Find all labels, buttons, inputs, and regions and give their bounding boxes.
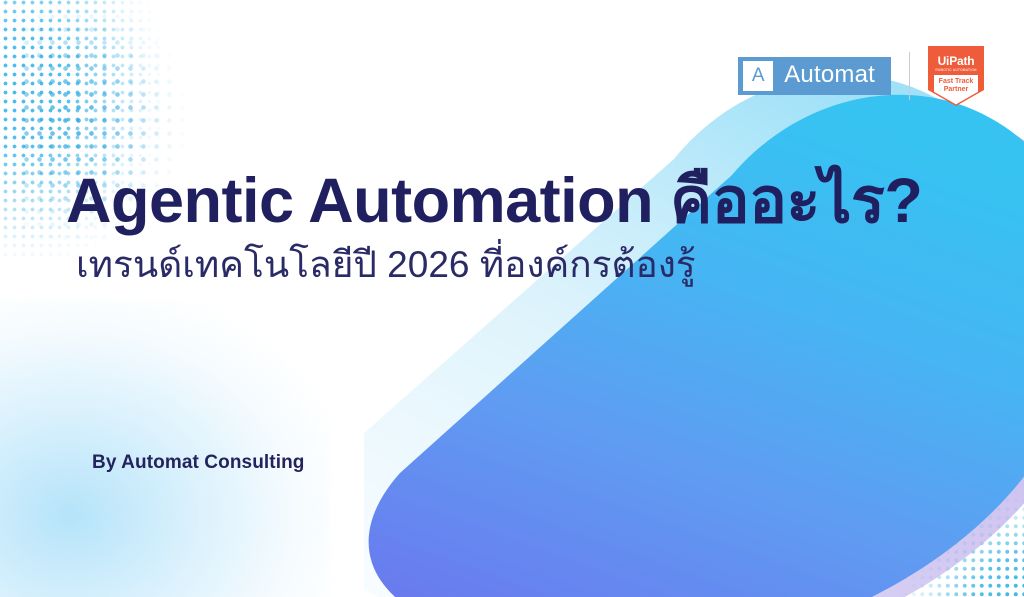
logo-bar: A Automat UiPath ROBOTIC AUTOMATION Fast… xyxy=(738,46,984,106)
byline: By Automat Consulting xyxy=(92,452,305,474)
uipath-fast-track-partner-badge[interactable]: UiPath ROBOTIC AUTOMATION Fast Track Par… xyxy=(928,46,984,106)
automat-wordmark: Automat xyxy=(784,63,875,89)
automat-logo[interactable]: A Automat xyxy=(738,57,891,95)
uipath-brand-text: UiPath xyxy=(928,55,984,67)
ribbon-line-2: Partner xyxy=(944,86,969,93)
ribbon-line-1: Fast Track xyxy=(939,78,974,85)
automat-mark-icon: A xyxy=(743,61,773,91)
uipath-tagline-text: ROBOTIC AUTOMATION xyxy=(928,69,984,72)
headline-block: Agentic Automation คืออะไร? เทรนด์เทคโนโ… xyxy=(66,168,966,286)
logo-divider xyxy=(909,52,910,100)
page-subtitle: เทรนด์เทคโนโลยีปี 2026 ที่องค์กรต้องรู้ xyxy=(76,243,966,287)
uipath-ribbon-text: Fast Track Partner xyxy=(928,78,984,94)
presentation-slide: A Automat UiPath ROBOTIC AUTOMATION Fast… xyxy=(0,0,1024,597)
blue-gradient-blob xyxy=(364,57,1024,597)
bottom-left-glow xyxy=(0,300,330,597)
bottom-right-halftone-dots xyxy=(884,471,1024,597)
page-title: Agentic Automation คืออะไร? xyxy=(66,168,966,235)
blob-halo xyxy=(364,75,1024,597)
